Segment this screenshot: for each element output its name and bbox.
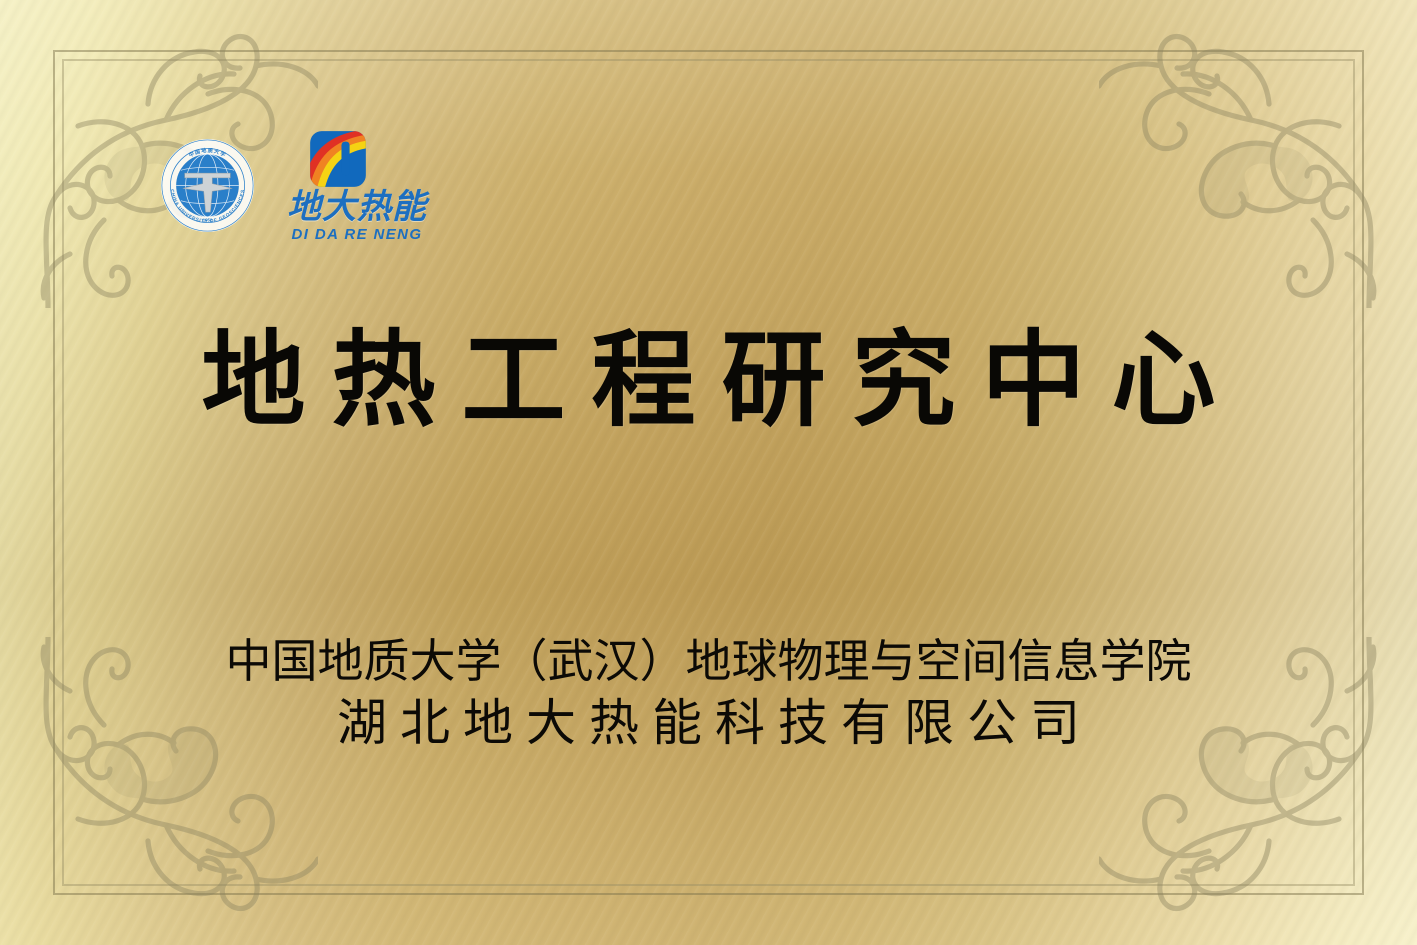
cug-globe-logo: 中国地质大学 CHINA UNIVERSITY OF GEOSCIENCES 1… <box>160 138 255 233</box>
company-name-en: DI DA RE NENG <box>292 227 423 242</box>
company-name-cn: 地大热能 <box>287 190 427 224</box>
subtitle-block: 中国地质大学（武汉）地球物理与空间信息学院 湖北地大热能科技有限公司 <box>0 636 1417 753</box>
svg-text:1952: 1952 <box>203 218 213 223</box>
corner-ornament-top-right <box>1099 8 1399 308</box>
company-logo: 地大热能 DI DA RE NENG <box>287 130 427 242</box>
university-logo: 中国地质大学 CHINA UNIVERSITY OF GEOSCIENCES 1… <box>160 130 255 238</box>
institution-name-company: 湖北地大热能科技有限公司 <box>0 694 1417 753</box>
didareneng-rainbow-logo <box>309 130 367 188</box>
logo-group: 中国地质大学 CHINA UNIVERSITY OF GEOSCIENCES 1… <box>160 130 427 242</box>
page-title: 地热工程研究中心 <box>0 328 1417 432</box>
institution-name-university: 中国地质大学（武汉）地球物理与空间信息学院 <box>0 636 1417 688</box>
plaque-board: 中国地质大学 CHINA UNIVERSITY OF GEOSCIENCES 1… <box>0 0 1417 945</box>
